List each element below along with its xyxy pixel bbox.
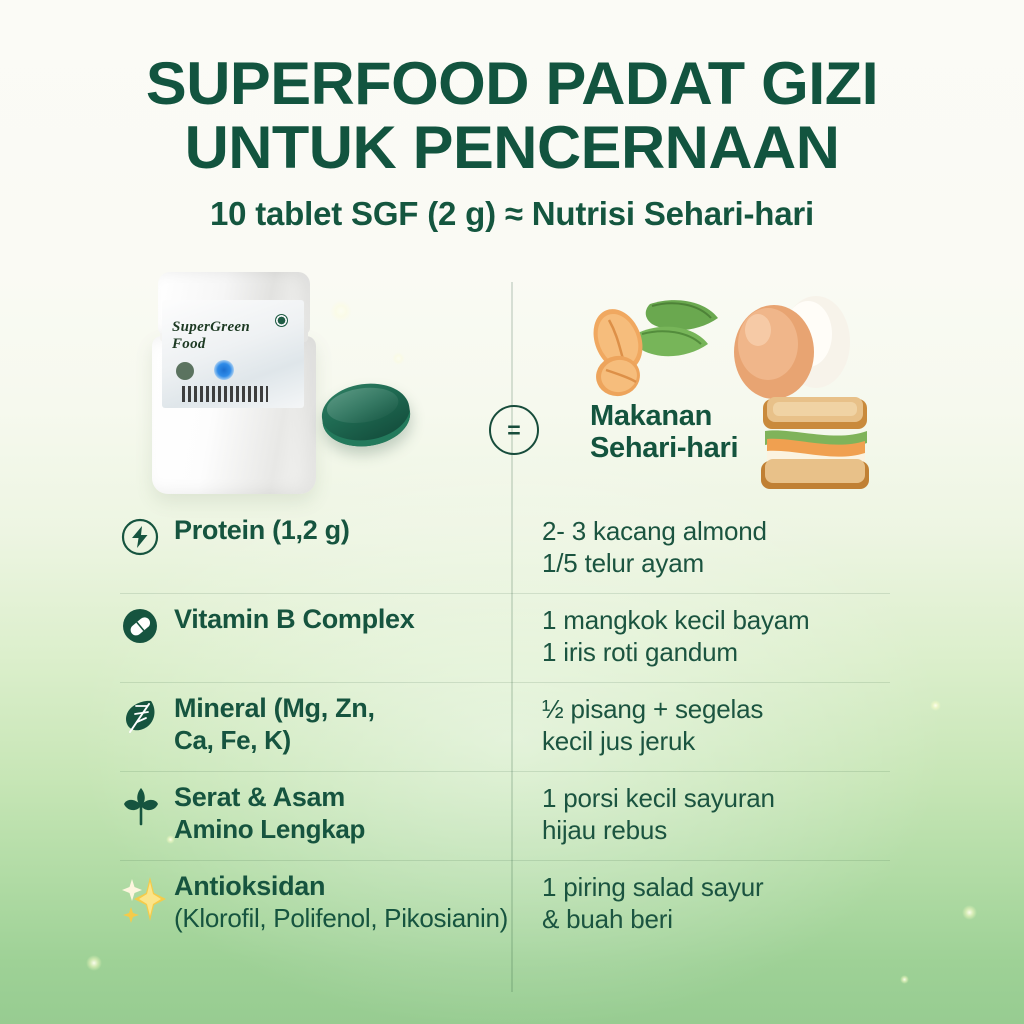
nutrition-comparison-table: Protein (1,2 g) 2- 3 kacang almond 1/5 t… [120, 505, 890, 949]
nutrient-label: Antioksidan (Klorofil, Polifenol, Pikosi… [174, 871, 508, 934]
equivalent-line-2: hijau rebus [542, 815, 667, 845]
equivalent-line-1: 2- 3 kacang almond [542, 516, 767, 546]
brand-line-2: Food [172, 337, 250, 352]
product-bottle-image: SuperGreen Food [150, 272, 320, 497]
label-graphic-icon [214, 360, 234, 380]
equivalent-cell: 1 mangkok kecil bayam 1 iris roti gandum [512, 594, 890, 682]
table-row: Serat & Asam Amino Lengkap 1 porsi kecil… [120, 771, 890, 860]
equivalent-text: 1 piring salad sayur & buah beri [542, 871, 890, 935]
nutrient-name: Vitamin B Complex [174, 604, 414, 634]
nutrient-name: Protein (1,2 g) [174, 515, 350, 545]
equivalent-line-2: & buah beri [542, 904, 673, 934]
equivalent-line-2: 1 iris roti gandum [542, 637, 738, 667]
nutrient-cell: Mineral (Mg, Zn, Ca, Fe, K) [120, 683, 512, 771]
barcode-icon [182, 386, 268, 402]
nutrient-name-sub: Ca, Fe, K) [174, 725, 375, 756]
food-caption-line-1: Makanan [590, 400, 712, 432]
leaf-icon [120, 693, 174, 737]
product-brand-name: SuperGreen Food [172, 320, 250, 352]
equivalent-line-1: ½ pisang + segelas [542, 694, 763, 724]
table-row: Vitamin B Complex 1 mangkok kecil bayam … [120, 593, 890, 682]
equivalent-line-2: 1/5 telur ayam [542, 548, 704, 578]
nutrient-label: Protein (1,2 g) [174, 515, 350, 547]
equivalent-cell: 1 piring salad sayur & buah beri [512, 861, 890, 949]
header: SUPERFOOD PADAT GIZI UNTUK PENCERNAAN 10… [0, 52, 1024, 233]
nutrient-name: Antioksidan [174, 871, 325, 901]
nutrient-cell: Antioksidan (Klorofil, Polifenol, Pikosi… [120, 861, 512, 949]
brand-logo-icon [275, 314, 288, 327]
nutrient-cell: Protein (1,2 g) [120, 505, 512, 593]
equivalent-line-1: 1 mangkok kecil bayam [542, 605, 809, 635]
eggs-icon [728, 294, 860, 400]
equivalent-line-1: 1 porsi kecil sayuran [542, 783, 775, 813]
sprout-icon [120, 782, 174, 828]
equivalent-text: 1 porsi kecil sayuran hijau rebus [542, 782, 890, 846]
nutrient-label: Mineral (Mg, Zn, Ca, Fe, K) [174, 693, 375, 756]
page-subtitle: 10 tablet SGF (2 g) ≈ Nutrisi Sehari-har… [0, 195, 1024, 233]
nutrient-cell: Vitamin B Complex [120, 594, 512, 682]
nutrient-name: Mineral (Mg, Zn, [174, 693, 375, 723]
nutrient-cell: Serat & Asam Amino Lengkap [120, 772, 512, 860]
equivalent-cell: ½ pisang + segelas kecil jus jeruk [512, 683, 890, 771]
capsule-pill-icon [120, 604, 174, 646]
page-title-line-1: SUPERFOOD PADAT GIZI [0, 52, 1024, 116]
food-caption-line-2: Sehari-hari [590, 432, 738, 464]
equivalent-line-1: 1 piring salad sayur [542, 872, 763, 902]
green-tablet-icon [318, 378, 414, 452]
table-row: Antioksidan (Klorofil, Polifenol, Pikosi… [120, 860, 890, 949]
product-label: SuperGreen Food [162, 300, 304, 408]
equivalent-text: 1 mangkok kecil bayam 1 iris roti gandum [542, 604, 890, 668]
nutrient-name-sub: (Klorofil, Polifenol, Pikosianin) [174, 903, 508, 934]
infographic-poster: SUPERFOOD PADAT GIZI UNTUK PENCERNAAN 10… [0, 0, 1024, 1024]
nutrient-name-sub: Amino Lengkap [174, 814, 365, 845]
equivalent-line-2: kecil jus jeruk [542, 726, 695, 756]
equivalent-text: 2- 3 kacang almond 1/5 telur ayam [542, 515, 890, 579]
equivalent-cell: 2- 3 kacang almond 1/5 telur ayam [512, 505, 890, 593]
equivalent-cell: 1 porsi kecil sayuran hijau rebus [512, 772, 890, 860]
nutrient-label: Serat & Asam Amino Lengkap [174, 782, 365, 845]
certification-seal-icon [176, 362, 194, 380]
sparkles-icon [120, 871, 174, 925]
sandwich-icon [755, 393, 877, 493]
table-row: Protein (1,2 g) 2- 3 kacang almond 1/5 t… [120, 505, 890, 593]
almonds-icon [578, 292, 728, 400]
equivalent-text: ½ pisang + segelas kecil jus jeruk [542, 693, 890, 757]
everyday-food-section: Makanan Sehari-hari [560, 288, 920, 498]
table-row: Mineral (Mg, Zn, Ca, Fe, K) ½ pisang + s… [120, 682, 890, 771]
brand-line-1: SuperGreen [172, 319, 250, 335]
nutrient-label: Vitamin B Complex [174, 604, 414, 636]
lightning-bolt-circle-icon [120, 515, 174, 557]
page-title-line-2: UNTUK PENCERNAAN [0, 116, 1024, 180]
nutrient-name: Serat & Asam [174, 782, 345, 812]
